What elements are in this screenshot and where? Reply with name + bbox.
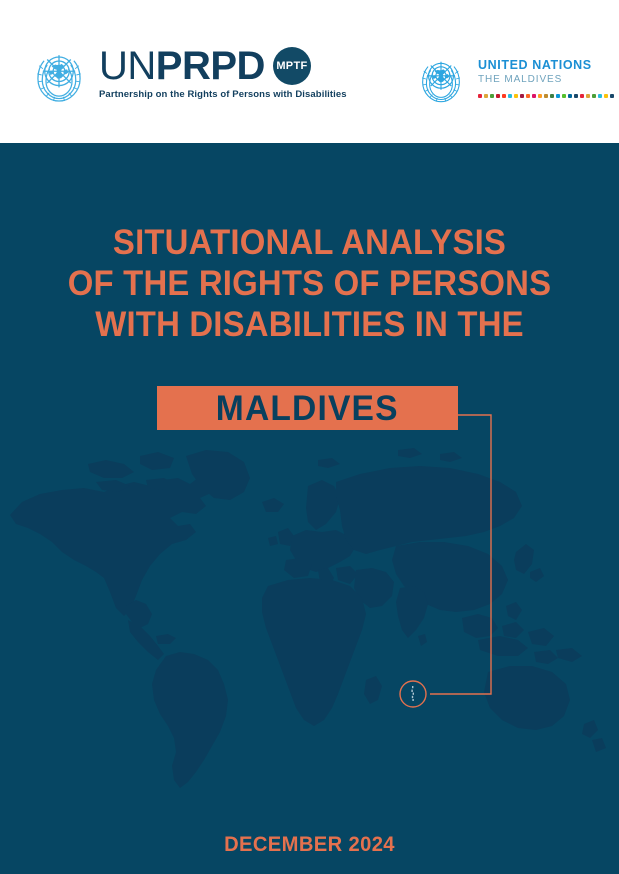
sdg-dot-3 [490, 94, 494, 98]
sdg-dot-8 [520, 94, 524, 98]
unprpd-tagline: Partnership on the Rights of Persons wit… [99, 89, 347, 100]
sdg-dot-17 [574, 94, 578, 98]
sdg-dot-9 [526, 94, 530, 98]
sdg-dot-1 [478, 94, 482, 98]
sdg-dot-13 [550, 94, 554, 98]
sdg-dot-4 [496, 94, 500, 98]
map-landmasses [10, 448, 606, 788]
document-cover: SITUATIONAL ANALYSIS OF THE RIGHTS OF PE… [0, 0, 619, 874]
sdg-dot-10 [532, 94, 536, 98]
sdg-dot-20 [592, 94, 596, 98]
sdg-dot-18 [580, 94, 584, 98]
unprpd-text-block: UN PRPD MPTF Partnership on the Rights o… [99, 44, 347, 100]
sdg-color-dots [478, 94, 614, 98]
sdg-dot-12 [544, 94, 548, 98]
world-map [0, 420, 619, 820]
sdg-dot-11 [538, 94, 542, 98]
cover-title: SITUATIONAL ANALYSIS OF THE RIGHTS OF PE… [0, 222, 619, 345]
publication-date: DECEMBER 2024 [12, 833, 606, 857]
sdg-dot-23 [610, 94, 614, 98]
sdg-dot-2 [484, 94, 488, 98]
country-name: MALDIVES [216, 391, 399, 426]
sdg-dot-15 [562, 94, 566, 98]
mptf-badge: MPTF [273, 47, 311, 85]
the-maldives-label: THE MALDIVES [478, 73, 614, 86]
sdg-dot-5 [502, 94, 506, 98]
country-highlight-bar: MALDIVES [157, 386, 458, 430]
mptf-badge-label: MPTF [276, 60, 307, 72]
sdg-dot-16 [568, 94, 572, 98]
unprpd-un-text: UN [99, 46, 156, 86]
sdg-dot-7 [514, 94, 518, 98]
un-emblem-icon [28, 44, 90, 106]
un-emblem-icon [414, 52, 468, 106]
sdg-dot-21 [598, 94, 602, 98]
unprpd-prpd-text: PRPD [156, 46, 265, 86]
unprpd-logo: UN PRPD MPTF Partnership on the Rights o… [28, 44, 347, 106]
sdg-dot-22 [604, 94, 608, 98]
sdg-dot-6 [508, 94, 512, 98]
united-nations-label: UNITED NATIONS [478, 58, 614, 72]
sdg-dot-19 [586, 94, 590, 98]
title-line-1: SITUATIONAL ANALYSIS [19, 222, 601, 263]
title-line-2: OF THE RIGHTS OF PERSONS [19, 263, 601, 304]
title-line-3: WITH DISABILITIES IN THE [19, 304, 601, 345]
sdg-dot-14 [556, 94, 560, 98]
header-band: UN PRPD MPTF Partnership on the Rights o… [0, 0, 619, 143]
un-maldives-logo: UNITED NATIONS THE MALDIVES [414, 52, 614, 106]
unprpd-wordmark: UN PRPD MPTF [99, 46, 347, 86]
un-maldives-text-block: UNITED NATIONS THE MALDIVES [478, 52, 614, 98]
